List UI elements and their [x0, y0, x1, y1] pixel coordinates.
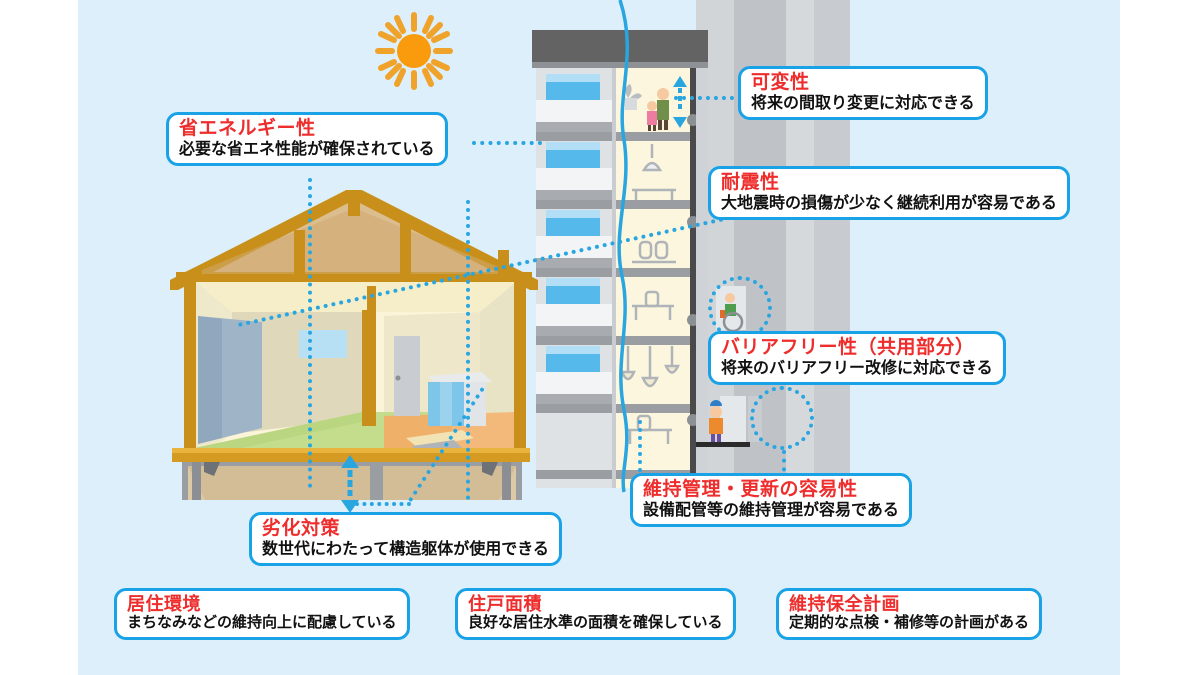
callout-subtitle: 良好な居住水準の面積を確保している — [468, 615, 723, 631]
connector-energy-saving-h — [472, 141, 542, 145]
callout-subtitle: 定期的な点検・補修等の計画がある — [789, 615, 1029, 631]
callout-energy-saving[interactable]: 省エネルギー性 必要な省エネ性能が確保されている — [166, 112, 448, 166]
connector-energy-saving-v — [308, 178, 312, 488]
callout-subtitle: 数世代にわたって構造躯体が使用できる — [262, 541, 549, 558]
callout-subtitle: 設備配管等の維持管理が容易である — [643, 502, 899, 519]
callout-title: 居住環境 — [127, 595, 397, 614]
house-cutaway — [162, 190, 642, 500]
connector-maintenance-house-v — [638, 420, 642, 480]
callout-title: 省エネルギー性 — [179, 119, 435, 140]
callout-title: 維持管理・更新の容易性 — [643, 480, 899, 501]
callout-barrier-free[interactable]: バリアフリー性（共用部分） 将来のバリアフリー改修に対応できる — [708, 331, 1006, 385]
callout-subtitle: まちなみなどの維持向上に配慮している — [127, 615, 397, 631]
callout-earthquake-resistance[interactable]: 耐震性 大地震時の損傷が少なく継続利用が容易である — [708, 166, 1070, 220]
callout-dwelling-area[interactable]: 住戸面積 良好な居住水準の面積を確保している — [455, 588, 736, 640]
callout-subtitle: 大地震時の損傷が少なく継続利用が容易である — [721, 195, 1057, 212]
callout-title: 維持保全計画 — [789, 595, 1029, 614]
callout-maintenance-plan[interactable]: 維持保全計画 定期的な点検・補修等の計画がある — [776, 588, 1042, 640]
callout-living-environment[interactable]: 居住環境 まちなみなどの維持向上に配慮している — [114, 588, 410, 640]
callout-title: 可変性 — [751, 73, 975, 94]
callout-subtitle: 将来のバリアフリー改修に対応できる — [721, 360, 993, 377]
diagram-root: 省エネルギー性 必要な省エネ性能が確保されている 可変性 将来の間取り変更に対応… — [0, 0, 1200, 675]
callout-flexibility[interactable]: 可変性 将来の間取り変更に対応できる — [738, 66, 988, 120]
vertical-double-arrow-icon — [336, 455, 364, 513]
connector-flexibility — [674, 96, 734, 100]
sun-icon — [368, 5, 460, 97]
callout-degradation-measures[interactable]: 劣化対策 数世代にわたって構造躯体が使用できる — [249, 512, 562, 566]
callout-title: バリアフリー性（共用部分） — [721, 338, 993, 359]
diagram-canvas: 省エネルギー性 必要な省エネ性能が確保されている 可変性 将来の間取り変更に対応… — [78, 0, 1120, 675]
elevator-highlight-circle — [750, 386, 814, 450]
callout-title: 劣化対策 — [262, 519, 549, 540]
callout-title: 耐震性 — [721, 173, 1057, 194]
callout-subtitle: 必要な省エネ性能が確保されている — [179, 141, 435, 158]
callout-subtitle: 将来の間取り変更に対応できる — [751, 95, 975, 112]
callout-maintenance-ease[interactable]: 維持管理・更新の容易性 設備配管等の維持管理が容易である — [630, 473, 912, 527]
callout-title: 住戸面積 — [468, 595, 723, 614]
connector-degradation-v — [466, 200, 470, 500]
